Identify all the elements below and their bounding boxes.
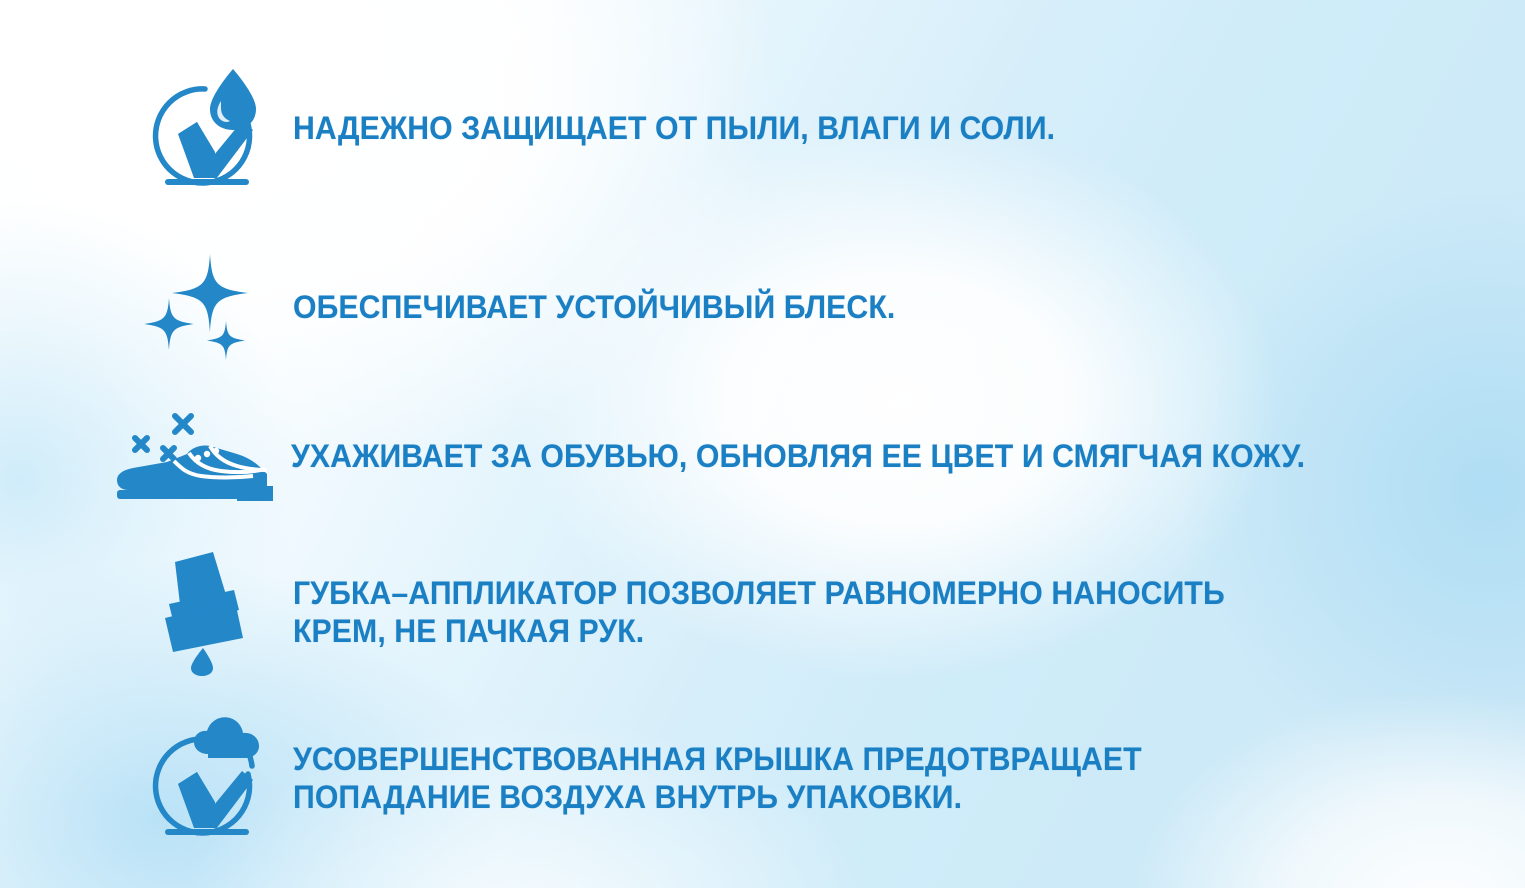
feature-text: ГУБКА–АППЛИКАТОР ПОЗВОЛЯЕТ РАВНОМЕРНО НА…	[293, 574, 1225, 651]
feature-row: УХАЖИВАЕТ ЗА ОБУВЬЮ, ОБНОВЛЯЯ ЕЕ ЦВЕТ И …	[118, 406, 1381, 506]
feature-icon-cell	[118, 62, 293, 194]
feature-text: УХАЖИВАЕТ ЗА ОБУВЬЮ, ОБНОВЛЯЯ ЕЕ ЦВЕТ И …	[291, 437, 1305, 475]
feature-list-poster: НАДЕЖНО ЗАЩИЩАЕТ ОТ ПЫЛИ, ВЛАГИ И СОЛИ. …	[0, 0, 1525, 888]
water-drop-check-circle-icon	[142, 62, 270, 194]
feature-icon-cell	[118, 712, 293, 844]
feature-row: ГУБКА–АППЛИКАТОР ПОЗВОЛЯЕТ РАВНОМЕРНО НА…	[118, 548, 1295, 676]
feature-text: НАДЕЖНО ЗАЩИЩАЕТ ОТ ПЫЛИ, ВЛАГИ И СОЛИ.	[293, 109, 1055, 147]
sponge-applicator-icon	[151, 548, 261, 676]
cloud-check-circle-icon	[142, 712, 270, 844]
feature-text: ОБЕСПЕЧИВАЕТ УСТОЙЧИВЫЙ БЛЕСК.	[293, 288, 895, 326]
feature-icon-cell	[118, 548, 293, 676]
feature-row: УСОВЕРШЕНСТВОВАННАЯ КРЫШКА ПРЕДОТВРАЩАЕТ…	[118, 712, 1206, 844]
sparkles-shine-icon	[142, 248, 270, 366]
feature-text: УСОВЕРШЕНСТВОВАННАЯ КРЫШКА ПРЕДОТВРАЩАЕТ…	[293, 740, 1142, 817]
feature-icon-cell	[106, 406, 291, 506]
feature-row: НАДЕЖНО ЗАЩИЩАЕТ ОТ ПЫЛИ, ВЛАГИ И СОЛИ.	[118, 62, 1113, 194]
feature-row: ОБЕСПЕЧИВАЕТ УСТОЙЧИВЫЙ БЛЕСК.	[118, 248, 941, 366]
polished-shoe-icon	[111, 406, 287, 506]
feature-icon-cell	[118, 248, 293, 366]
